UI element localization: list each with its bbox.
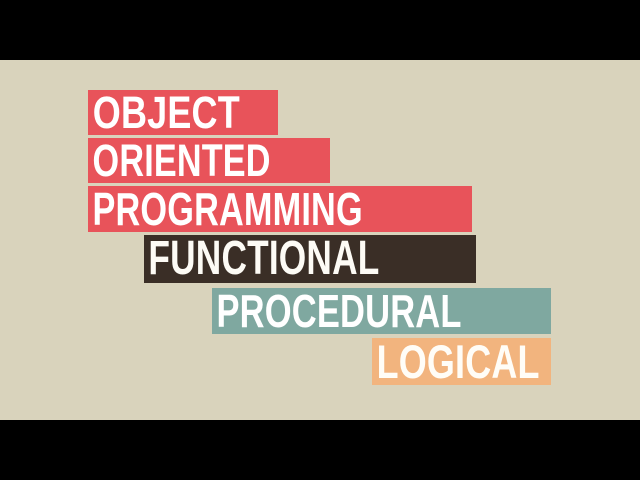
word-label-procedural: PROCEDURAL [212, 288, 462, 334]
word-label-oriented: ORIENTED [88, 138, 271, 183]
highlight-row-programming: PROGRAMMING [88, 186, 472, 232]
highlight-row-logical: LOGICAL [372, 338, 551, 385]
highlight-row-object: OBJECT [88, 90, 278, 135]
highlight-row-procedural: PROCEDURAL [212, 288, 551, 334]
letterbox-bar-bottom [0, 420, 640, 480]
word-label-object: OBJECT [88, 90, 240, 135]
letterbox-bar-top [0, 0, 640, 60]
slide-canvas: OBJECT ORIENTED PROGRAMMING FUNCTIONAL P… [0, 60, 640, 420]
word-label-logical: LOGICAL [372, 338, 540, 385]
word-label-functional: FUNCTIONAL [144, 235, 379, 283]
highlight-row-functional: FUNCTIONAL [144, 235, 476, 283]
video-frame: OBJECT ORIENTED PROGRAMMING FUNCTIONAL P… [0, 0, 640, 480]
highlight-row-oriented: ORIENTED [88, 138, 330, 183]
word-label-programming: PROGRAMMING [88, 186, 363, 232]
